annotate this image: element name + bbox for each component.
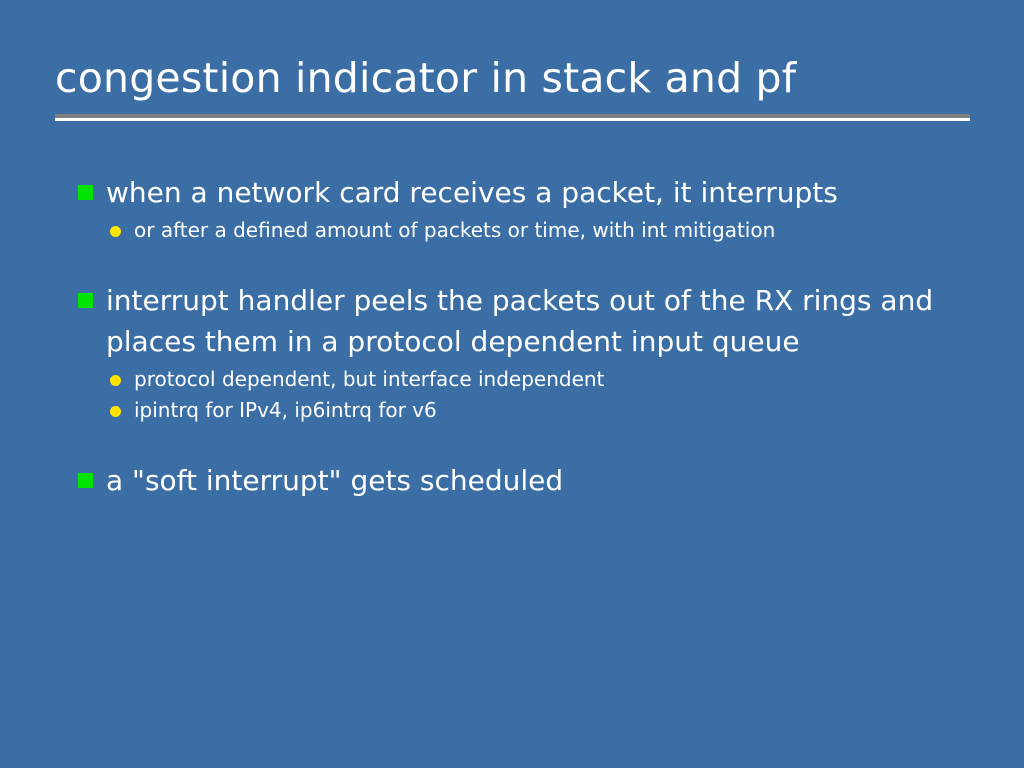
- yellow-dot-bullet-icon: [110, 375, 121, 386]
- bullet-item-level1: when a network card receives a packet, i…: [72, 172, 962, 213]
- page-title: congestion indicator in stack and pf: [55, 52, 970, 104]
- slide-title-block: congestion indicator in stack and pf: [55, 52, 970, 104]
- yellow-dot-bullet-icon: [110, 226, 121, 237]
- bullet-item-level1-label: interrupt handler peels the packets out …: [106, 280, 962, 362]
- sub-bullet-list: or after a defined amount of packets or …: [72, 215, 962, 246]
- bullet-group: interrupt handler peels the packets out …: [72, 280, 962, 426]
- bullet-group: when a network card receives a packet, i…: [72, 172, 962, 246]
- sub-bullet-list: protocol dependent, but interface indepe…: [72, 364, 962, 426]
- bullet-item-level2: or after a defined amount of packets or …: [72, 215, 962, 246]
- slide-body: when a network card receives a packet, i…: [72, 172, 962, 501]
- section-spacer: [72, 272, 962, 280]
- yellow-dot-bullet-icon: [110, 406, 121, 417]
- bullet-group: a "soft interrupt" gets scheduled: [72, 460, 962, 501]
- green-square-bullet-icon: [78, 185, 93, 200]
- bullet-item-level1: interrupt handler peels the packets out …: [72, 280, 962, 362]
- title-underline-highlight: [55, 118, 970, 121]
- green-square-bullet-icon: [78, 473, 93, 488]
- presentation-slide: congestion indicator in stack and pf whe…: [0, 0, 1024, 768]
- section-spacer: [72, 452, 962, 460]
- bullet-item-level2: ipintrq for IPv4, ip6intrq for v6: [72, 395, 962, 426]
- bullet-item-level1: a "soft interrupt" gets scheduled: [72, 460, 962, 501]
- green-square-bullet-icon: [78, 293, 93, 308]
- title-underline-rule: [55, 114, 970, 121]
- bullet-item-level2-label: protocol dependent, but interface indepe…: [134, 364, 962, 395]
- bullet-item-level2-label: or after a defined amount of packets or …: [134, 215, 962, 246]
- bullet-item-level2: protocol dependent, but interface indepe…: [72, 364, 962, 395]
- bullet-item-level1-label: when a network card receives a packet, i…: [106, 172, 962, 213]
- bullet-item-level2-label: ipintrq for IPv4, ip6intrq for v6: [134, 395, 962, 426]
- bullet-item-level1-label: a "soft interrupt" gets scheduled: [106, 460, 962, 501]
